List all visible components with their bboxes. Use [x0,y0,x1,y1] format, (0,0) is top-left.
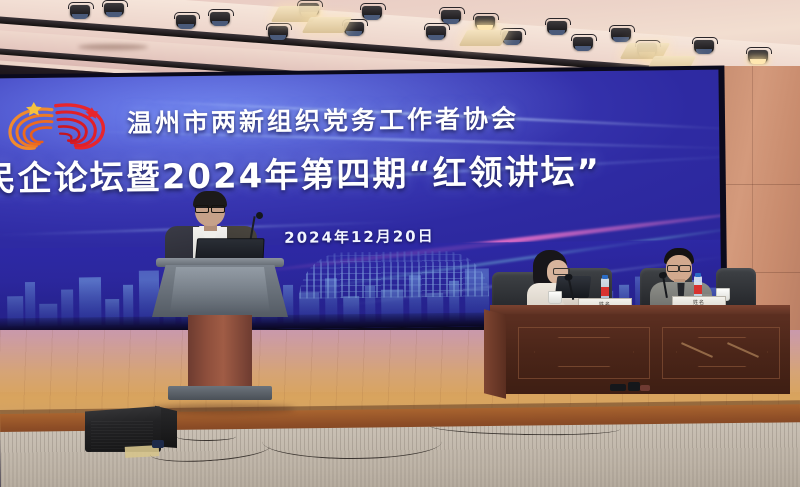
stage-spotlight [438,7,464,24]
barn-door-shutter [458,30,509,46]
podium-wooden-column [188,315,252,389]
speaking-podium [152,258,288,413]
stage-spotlight [173,12,199,29]
led-screen-surface: 温州市两新组织党务工作者协会 廉民企论坛暨2024年第四期“红领讲坛” 2024… [0,70,722,333]
stage-spotlight [472,13,498,30]
podium-base [168,386,272,400]
conference-stage-photo: 温州市两新组织党务工作者协会 廉民企论坛暨2024年第四期“红领讲坛” 2024… [0,0,800,487]
stage-spotlight [745,47,771,64]
eyeglasses [667,265,691,270]
stage-spotlight [544,18,570,35]
stage-spotlight [691,37,717,54]
floor-cable [262,424,442,459]
stage-spotlight [207,9,233,26]
stage-spotlight [423,23,449,40]
barn-door-shutter [301,17,352,33]
floor-cable [176,432,236,441]
stage-spotlight [570,34,596,51]
microphone-head [256,212,263,219]
stage-spotlight [608,25,634,42]
cable-junction-box [610,382,654,396]
led-video-wall: 温州市两新组织党务工作者协会 廉民企论坛暨2024年第四期“红领讲坛” 2024… [0,66,728,337]
screen-org-title: 温州市两新组织党务工作者协会 [127,97,687,140]
eyeglasses [195,205,225,211]
stage-spotlight [67,2,93,19]
stage-spotlight [359,3,385,20]
screen-event-title: 廉民企论坛暨2024年第四期“红领讲坛” [0,142,722,201]
paper-cup [548,291,562,304]
stage-spotlight [101,0,127,17]
phoenix-swirl-emblem [0,95,112,158]
desk-left-return [484,309,506,398]
stage-spotlight [265,23,291,40]
